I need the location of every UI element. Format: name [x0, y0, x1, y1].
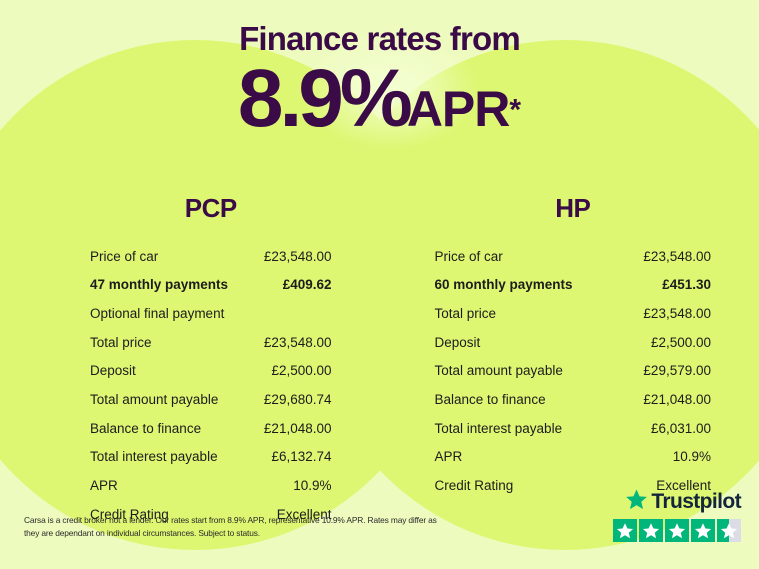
row-label: Optional final payment	[90, 307, 224, 321]
row-label: Price of car	[90, 250, 158, 264]
row-value: 10.9%	[293, 479, 331, 493]
table-row: Total interest payable£6,132.74	[90, 443, 332, 472]
table-row: Balance to finance£21,048.00	[435, 385, 712, 414]
row-label: Deposit	[435, 336, 481, 350]
row-value: £6,031.00	[651, 422, 711, 436]
row-value: £409.62	[283, 278, 332, 292]
row-label: Price of car	[435, 250, 503, 264]
row-value: £23,548.00	[264, 250, 332, 264]
row-value: £23,548.00	[264, 336, 332, 350]
table-row: Price of car£23,548.00	[435, 242, 712, 271]
rate-value: 8.9%	[238, 53, 409, 144]
finance-rates-banner: Finance rates from 8.9%APR* PCP Price of…	[0, 0, 759, 569]
trustpilot-label: Trustpilot	[651, 490, 741, 514]
table-row: Total price£23,548.00	[435, 299, 712, 328]
row-label: Total amount payable	[90, 393, 218, 407]
row-label: Total interest payable	[435, 422, 563, 436]
plan-columns: PCP Price of car£23,548.0047 monthly pay…	[0, 193, 759, 529]
row-value: £451.30	[662, 278, 711, 292]
table-row: Price of car£23,548.00	[90, 242, 332, 271]
row-label: 47 monthly payments	[90, 278, 228, 292]
trustpilot-full-star-icon	[691, 519, 715, 542]
row-label: Total price	[435, 307, 497, 321]
table-row: Total interest payable£6,031.00	[435, 414, 712, 443]
trustpilot-stars	[609, 519, 741, 542]
row-value: £29,680.74	[264, 393, 332, 407]
table-row: Total amount payable£29,680.74	[90, 385, 332, 414]
table-row: 47 monthly payments£409.62	[90, 271, 332, 300]
table-row: 60 monthly payments£451.30	[435, 271, 712, 300]
row-value: £23,548.00	[643, 250, 711, 264]
row-value: £29,579.00	[643, 364, 711, 378]
row-value: £2,500.00	[651, 336, 711, 350]
asterisk-marker: *	[509, 94, 521, 127]
table-row: APR10.9%	[90, 472, 332, 501]
table-row: Balance to finance£21,048.00	[90, 414, 332, 443]
rate-unit: APR	[407, 81, 510, 137]
trustpilot-rating[interactable]: Trustpilot	[609, 489, 741, 542]
row-label: Total interest payable	[90, 450, 218, 464]
table-row: Total amount payable£29,579.00	[435, 357, 712, 386]
row-label: APR	[90, 479, 118, 493]
plan-title-pcp: PCP	[90, 193, 332, 224]
trustpilot-full-star-icon	[639, 519, 663, 542]
row-value: 10.9%	[673, 450, 711, 464]
row-label: 60 monthly payments	[435, 278, 573, 292]
row-value: £23,548.00	[643, 307, 711, 321]
row-label: APR	[435, 450, 463, 464]
row-label: Credit Rating	[435, 479, 514, 493]
row-label: Total amount payable	[435, 364, 563, 378]
row-value: £21,048.00	[643, 393, 711, 407]
row-label: Balance to finance	[90, 422, 201, 436]
row-value: £21,048.00	[264, 422, 332, 436]
table-row: Deposit£2,500.00	[435, 328, 712, 357]
legal-disclaimer: Carsa is a credit broker not a lender. O…	[24, 514, 444, 540]
row-label: Total price	[90, 336, 152, 350]
headline-rate: 8.9%APR*	[0, 58, 759, 140]
plan-title-hp: HP	[435, 193, 712, 224]
table-row: Optional final payment	[90, 299, 332, 328]
table-row: Deposit£2,500.00	[90, 357, 332, 386]
plan-card-pcp: PCP Price of car£23,548.0047 monthly pay…	[0, 193, 380, 529]
trustpilot-star-icon	[625, 488, 648, 516]
table-row: Total price£23,548.00	[90, 328, 332, 357]
row-label: Deposit	[90, 364, 136, 378]
row-label: Balance to finance	[435, 393, 546, 407]
table-row: APR10.9%	[435, 443, 712, 472]
trustpilot-full-star-icon	[613, 519, 637, 542]
trustpilot-half-star-icon	[717, 519, 741, 542]
row-value: £2,500.00	[271, 364, 331, 378]
row-value: £6,132.74	[271, 450, 331, 464]
trustpilot-full-star-icon	[665, 519, 689, 542]
trustpilot-wordmark: Trustpilot	[609, 489, 741, 515]
plan-card-hp: HP Price of car£23,548.0060 monthly paym…	[380, 193, 759, 529]
plan-rows-hp: Price of car£23,548.0060 monthly payment…	[435, 242, 712, 500]
plan-rows-pcp: Price of car£23,548.0047 monthly payment…	[90, 242, 332, 529]
